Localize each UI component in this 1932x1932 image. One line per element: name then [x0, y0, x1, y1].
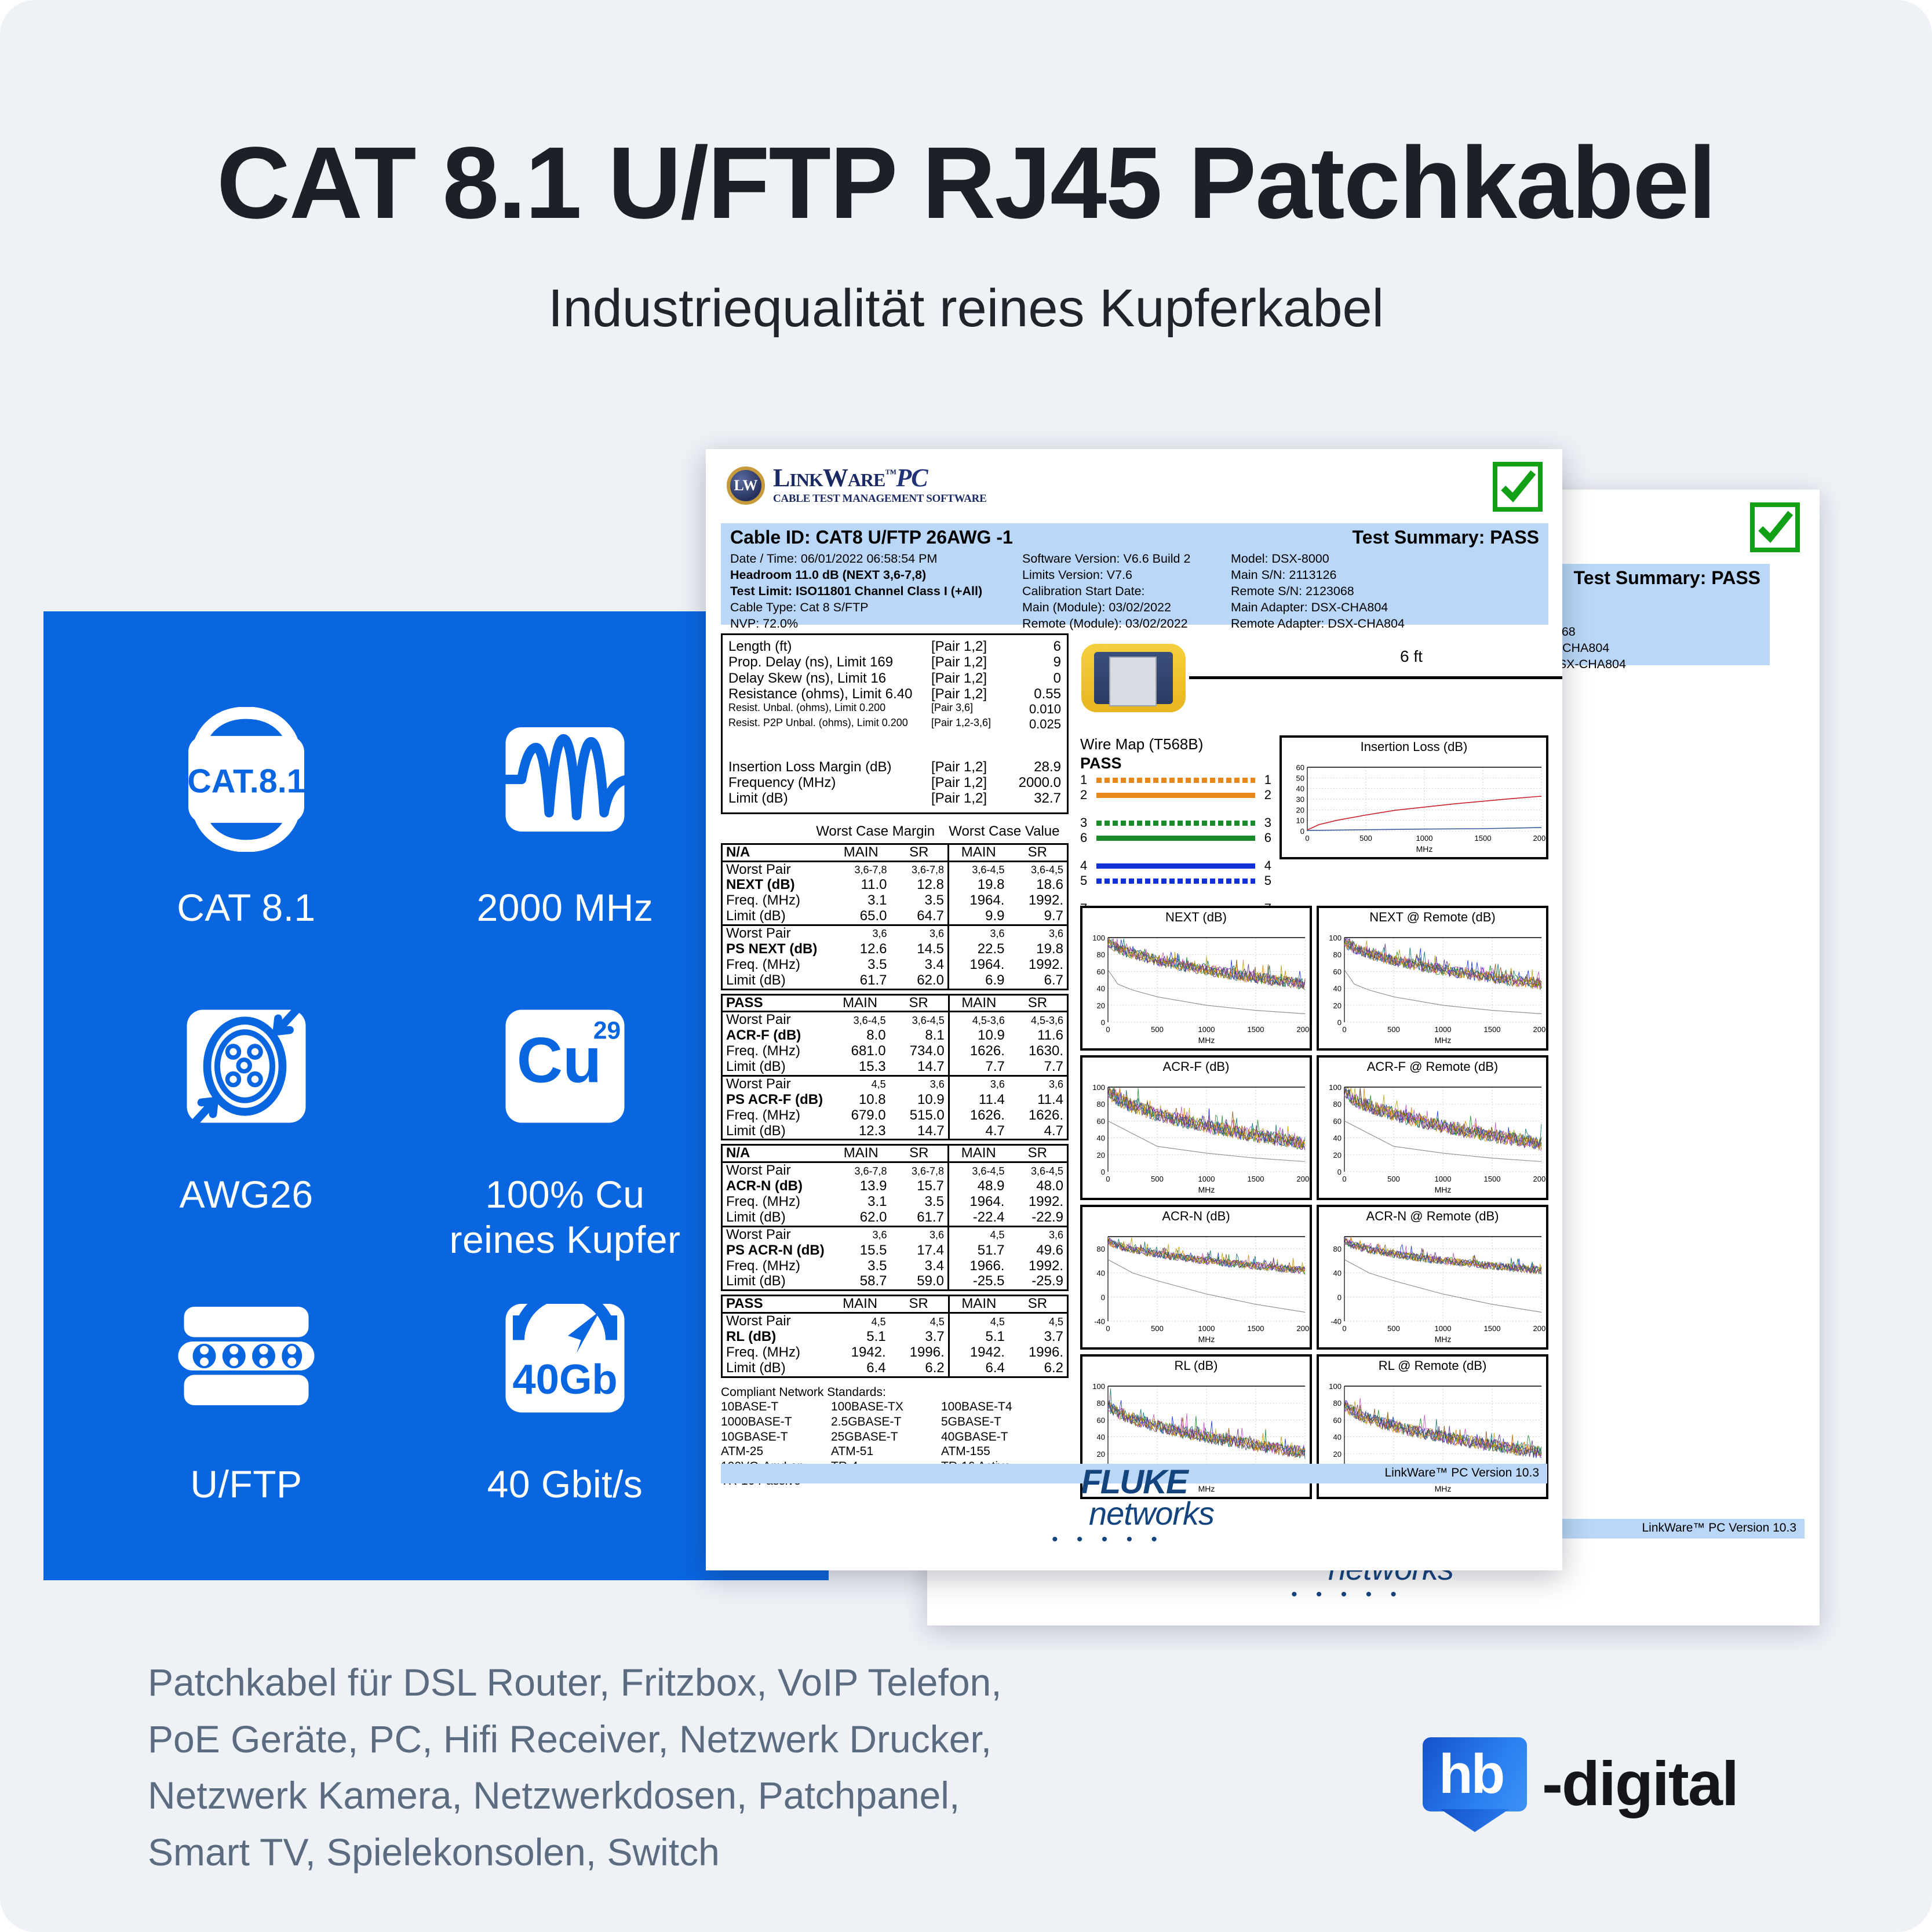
tester-diagram: 6 ft: [1076, 633, 1548, 731]
cell-value: 4,5: [831, 1313, 890, 1329]
cell-value: 12.6: [832, 942, 890, 957]
table-row: Worst Pair4,54,54,54,5: [722, 1313, 1068, 1329]
svg-text:1000: 1000: [1435, 1175, 1452, 1183]
cell-value: 3,6: [832, 925, 890, 942]
networks-wordmark: networks: [1089, 1498, 1214, 1529]
linkware-logo: LW LINKWARE™PC CABLE TEST MANAGEMENT SOF…: [727, 465, 986, 505]
cell-value: 4,5: [949, 1313, 1008, 1329]
chart-next-db: NEXT (dB) 0500100015002000020406080100MH…: [1080, 906, 1312, 1051]
measurement-pair: [Pair 1,2]: [931, 639, 1008, 654]
wire-number-left: 4: [1080, 858, 1093, 873]
feature-cat8-shield: CAT.8.1 CAT 8.1: [96, 684, 397, 931]
measurement-row: Frequency (MHz) [Pair 1,2] 2000.0: [728, 775, 1061, 790]
svg-text:60: 60: [1097, 967, 1105, 976]
measurement-pair: [Pair 1,2]: [931, 775, 1008, 790]
cell-value: 3.7: [1008, 1329, 1068, 1345]
speed-40gb-icon: 40Gb: [414, 1260, 716, 1452]
cell-value: 3,6-7,8: [890, 861, 948, 877]
cell-value: 7.7: [1008, 1059, 1068, 1076]
measurement-label: Delay Skew (ns), Limit 16: [728, 670, 931, 686]
svg-text:29: 29: [593, 1018, 621, 1045]
cell-value: 14.7: [890, 1124, 949, 1140]
row-label: ACR-N (dB): [722, 1179, 832, 1194]
svg-text:MHz: MHz: [1435, 1335, 1452, 1344]
column-header: MAIN: [832, 844, 890, 861]
table-row: Worst Pair3,63,64,53,6: [722, 1226, 1068, 1242]
wire-map-status: PASS: [1080, 754, 1271, 772]
standard-item: ATM-51: [831, 1444, 941, 1459]
cell-value: 3,6: [890, 1226, 948, 1242]
wire-number-right: 5: [1259, 873, 1271, 888]
cell-value: 11.6: [1008, 1028, 1068, 1044]
cable-id: Cable ID: CAT8 U/FTP 26AWG -1: [730, 527, 1013, 548]
measurement-pair: [Pair 1,2]: [931, 759, 1008, 775]
cell-value: 4,5: [948, 1226, 1008, 1242]
svg-text:1500: 1500: [1248, 1025, 1264, 1034]
measurement-value: 0: [1008, 670, 1061, 686]
cell-value: 9.9: [948, 909, 1008, 925]
chart-title: ACR-F (dB): [1082, 1058, 1310, 1074]
svg-text:0: 0: [1337, 1018, 1342, 1027]
cell-value: 3,6-7,8: [832, 861, 890, 877]
row-label: ACR-F (dB): [722, 1028, 831, 1044]
feature-label: 2000 MHz: [414, 885, 716, 931]
table-row: PS ACR-N (dB)15.517.451.749.6: [722, 1243, 1068, 1259]
worst-case-tables: N/AMAINSRMAINSRWorst Pair3,6-7,83,6-7,83…: [721, 843, 1069, 1378]
wire-pair-row: 2 2: [1080, 788, 1271, 803]
info-line: Main S/N: 2113126: [1231, 567, 1405, 584]
cell-value: 4.7: [949, 1124, 1008, 1140]
measurement-row: Insertion Loss Margin (dB) [Pair 1,2] 28…: [728, 759, 1061, 775]
column-header: MAIN: [831, 994, 890, 1012]
cable-cross-section-icon: [96, 971, 397, 1162]
measurement-label: Resist. P2P Unbal. (ohms), Limit 0.200: [728, 717, 931, 731]
cell-value: 3,6: [1008, 1226, 1067, 1242]
svg-text:100: 100: [1329, 1382, 1342, 1391]
cell-value: 6.9: [948, 973, 1008, 989]
cell-value: 1942.: [949, 1345, 1008, 1361]
wire-pair-row: 6 6: [1080, 830, 1271, 845]
svg-text:20: 20: [1333, 1151, 1342, 1160]
cell-value: 681.0: [831, 1044, 890, 1059]
fluke-dots: • • • • •: [1002, 1530, 1214, 1550]
standard-item: 100BASE-TX: [831, 1399, 941, 1415]
cell-value: 6.2: [890, 1361, 949, 1377]
measurement-label: Frequency (MHz): [728, 775, 931, 790]
chart-title: ACR-N (dB): [1082, 1207, 1310, 1224]
cell-value: 1992.: [1008, 957, 1067, 973]
cell-value: 15.7: [890, 1179, 948, 1194]
cell-value: 3,6: [890, 1076, 949, 1092]
measurement-pair: [Pair 1,2-3,6]: [931, 717, 1008, 731]
row-label: Limit (dB): [722, 909, 832, 925]
cell-value: -22.9: [1008, 1210, 1067, 1226]
standard-item: 1000BASE-T: [721, 1415, 831, 1430]
svg-text:-40: -40: [1094, 1317, 1105, 1326]
svg-text:0: 0: [1342, 1324, 1346, 1333]
cell-value: 11.4: [1008, 1092, 1068, 1108]
cell-value: 12.3: [831, 1124, 890, 1140]
measurement-row: Delay Skew (ns), Limit 16 [Pair 1,2] 0: [728, 670, 1061, 686]
svg-text:500: 500: [1387, 1175, 1400, 1183]
cell-value: 3,6: [890, 925, 948, 942]
back-fluke-dots: • • • • •: [1241, 1585, 1453, 1605]
report-info-band: Cable ID: CAT8 U/FTP 26AWG -1 Test Summa…: [721, 523, 1548, 625]
chart-plot: 0500100015002000020406080100MHz: [1319, 1074, 1546, 1198]
cell-value: 3,6-4,5: [890, 1012, 949, 1028]
column-header: SR: [890, 1145, 948, 1162]
cell-value: 1626.: [949, 1044, 1008, 1059]
svg-text:60: 60: [1333, 1416, 1342, 1424]
measurement-value: 28.9: [1008, 759, 1061, 775]
cell-value: 8.1: [890, 1028, 949, 1044]
cell-value: 3,6: [1008, 1076, 1068, 1092]
worst-case-table: PASSMAINSRMAINSRWorst Pair3,6-4,53,6-4,5…: [721, 994, 1069, 1141]
row-label: Freq. (MHz): [722, 1044, 831, 1059]
svg-text:40: 40: [1097, 1269, 1105, 1278]
standard-item: 10BASE-T: [721, 1399, 831, 1415]
svg-text:80: 80: [1097, 950, 1105, 959]
lw-badge-icon: LW: [727, 466, 765, 505]
svg-text:0: 0: [1106, 1175, 1110, 1183]
info-line: Remote Adapter: DSX-CHA804: [1231, 616, 1405, 632]
svg-text:1000: 1000: [1435, 1025, 1452, 1034]
cell-value: 3,6-4,5: [1008, 1162, 1067, 1179]
table-row: Worst Pair3,6-7,83,6-7,83,6-4,53,6-4,5: [722, 861, 1068, 877]
cell-value: 3,6: [832, 1226, 890, 1242]
column-header: SR: [890, 994, 949, 1012]
svg-text:60: 60: [1333, 1117, 1342, 1125]
table-row: PS NEXT (dB)12.614.522.519.8: [722, 942, 1068, 957]
row-label: Freq. (MHz): [722, 1345, 831, 1361]
measurement-value: 9: [1008, 654, 1061, 670]
table-header-row: PASSMAINSRMAINSR: [722, 994, 1068, 1012]
svg-text:1500: 1500: [1248, 1175, 1264, 1183]
table-header-row: PASSMAINSRMAINSR: [722, 1296, 1068, 1313]
svg-text:80: 80: [1097, 1399, 1105, 1408]
chart-title: ACR-N @ Remote (dB): [1319, 1207, 1546, 1224]
svg-text:MHz: MHz: [1416, 844, 1433, 854]
row-label: Worst Pair: [722, 925, 832, 942]
wire-pair-row: 5 5: [1080, 873, 1271, 888]
svg-text:10: 10: [1296, 816, 1304, 825]
table-row: PS ACR-F (dB)10.810.911.411.4: [722, 1092, 1068, 1108]
chart-insertion-loss-db: Insertion Loss (dB) 05001000150020000102…: [1280, 735, 1548, 859]
cell-value: 6.2: [1008, 1361, 1068, 1377]
chart-title: RL @ Remote (dB): [1319, 1357, 1546, 1373]
info-line: Date / Time: 06/01/2022 06:58:54 PM: [730, 551, 982, 567]
table-row: Freq. (MHz)3.13.51964.1992.: [722, 893, 1068, 909]
cell-value: 5.1: [831, 1329, 890, 1345]
table-header-row: N/AMAINSRMAINSR: [722, 1145, 1068, 1162]
standards-row: 10GBASE-T25GBASE-T40GBASE-T: [721, 1430, 1069, 1445]
linkware-tagline: CABLE TEST MANAGEMENT SOFTWARE: [773, 493, 986, 505]
measurement-pair: [Pair 1,2]: [931, 790, 1008, 806]
cell-value: 17.4: [890, 1243, 948, 1259]
svg-text:100: 100: [1092, 1083, 1105, 1092]
column-header: SR: [1008, 844, 1067, 861]
back-version-text: LinkWare™ PC Version 10.3: [1642, 1521, 1796, 1535]
cell-value: 18.6: [1008, 877, 1067, 893]
info-col-1: Date / Time: 06/01/2022 06:58:54 PMHeadr…: [730, 551, 982, 632]
info-line: Limits Version: V7.6: [1022, 567, 1190, 584]
cell-value: 3,6: [948, 925, 1008, 942]
table-row: RL (dB)5.13.75.13.7: [722, 1329, 1068, 1345]
column-header: MAIN: [948, 1145, 1008, 1162]
test-summary: Test Summary: PASS: [1353, 527, 1539, 548]
cell-value: 3.5: [890, 1194, 948, 1210]
column-header: SR: [890, 844, 948, 861]
svg-text:500: 500: [1151, 1175, 1164, 1183]
table-row: Worst Pair3,6-4,53,6-4,54,5-3,64,5-3,6: [722, 1012, 1068, 1028]
feature-speed-40gb: 40Gb 40 Gbit/s: [414, 1260, 716, 1507]
uftp-cable-icon: [96, 1260, 397, 1452]
cell-value: 11.0: [832, 877, 890, 893]
cell-value: 1992.: [1008, 1194, 1067, 1210]
cell-value: 4,5: [890, 1313, 949, 1329]
description-line: Smart TV, Spielekonsolen, Switch: [148, 1824, 1133, 1881]
svg-text:40: 40: [1296, 785, 1304, 793]
main-tester-icon: [1081, 644, 1186, 712]
measurement-label: Resistance (ohms), Limit 6.40: [728, 686, 931, 702]
feature-label: U/FTP: [96, 1462, 397, 1507]
table-row: Freq. (MHz)679.0515.01626.1626.: [722, 1108, 1068, 1124]
copper-element-icon: Cu 29: [414, 971, 716, 1162]
cell-value: 5.1: [949, 1329, 1008, 1345]
info-line: Cable Type: Cat 8 S/FTP: [730, 600, 982, 616]
wire-gap: [1080, 803, 1271, 815]
feature-label: AWG26: [96, 1172, 397, 1217]
column-header: MAIN: [832, 1145, 890, 1162]
info-line: Remote (Module): 03/02/2022: [1022, 616, 1190, 632]
svg-text:40: 40: [1333, 1134, 1342, 1143]
svg-text:1000: 1000: [1198, 1324, 1215, 1333]
standard-item: 100BASE-T4: [941, 1399, 1051, 1415]
cell-value: 15.5: [832, 1243, 890, 1259]
cell-value: 10.9: [949, 1028, 1008, 1044]
cell-value: 61.7: [890, 1210, 948, 1226]
hb-logo-mark: hb: [1423, 1737, 1527, 1830]
svg-text:0: 0: [1101, 1168, 1105, 1176]
chart-next-remote-db: NEXT @ Remote (dB) 050010001500200002040…: [1317, 906, 1548, 1051]
linkware-wordmark: LINKWARE™PC: [773, 465, 986, 491]
row-label: Worst Pair: [722, 861, 832, 877]
chart-acr-f-db: ACR-F (dB) 0500100015002000020406080100M…: [1080, 1055, 1312, 1200]
svg-text:30: 30: [1296, 795, 1304, 804]
feature-cable-cross-section: AWG26: [96, 971, 397, 1217]
svg-text:20: 20: [1097, 1001, 1105, 1010]
feature-uftp-cable: U/FTP: [96, 1260, 397, 1507]
measurement-row: Resist. P2P Unbal. (ohms), Limit 0.200 […: [728, 717, 1061, 731]
wire-number-right: 2: [1259, 788, 1271, 803]
measurement-value: 6: [1008, 639, 1061, 654]
cell-value: 4,5: [831, 1076, 890, 1092]
cell-value: 10.8: [831, 1092, 890, 1108]
info-line: NVP: 72.0%: [730, 616, 982, 632]
wire-number-left: 5: [1080, 873, 1093, 888]
measurement-label: Prop. Delay (ns), Limit 169: [728, 654, 931, 670]
waveform-icon: [414, 684, 716, 875]
cell-value: 6.7: [1008, 973, 1067, 989]
info-line: Model: DSX-8000: [1231, 551, 1405, 567]
table-row: Limit (dB)6.46.26.46.2: [722, 1361, 1068, 1377]
cell-value: 13.9: [832, 1179, 890, 1194]
svg-text:0: 0: [1101, 1293, 1105, 1302]
wire-map-title: Wire Map (T568B): [1080, 735, 1271, 753]
row-label: Freq. (MHz): [722, 957, 832, 973]
cell-value: 65.0: [832, 909, 890, 925]
table-row: Limit (dB)12.314.74.74.7: [722, 1124, 1068, 1140]
standard-item: 10GBASE-T: [721, 1430, 831, 1445]
cell-value: 11.4: [949, 1092, 1008, 1108]
cell-value: 3.5: [832, 1259, 890, 1274]
wire-line: [1096, 836, 1255, 841]
svg-text:100: 100: [1092, 1382, 1105, 1391]
cell-value: 1996.: [1008, 1345, 1068, 1361]
wc-value-header: Worst Case Value: [940, 823, 1069, 840]
chart-title: NEXT @ Remote (dB): [1319, 908, 1546, 925]
svg-text:40Gb: 40Gb: [512, 1356, 617, 1403]
standard-item: 2.5GBASE-T: [831, 1415, 941, 1430]
worst-case-table: N/AMAINSRMAINSRWorst Pair3,6-7,83,6-7,83…: [721, 1144, 1069, 1291]
row-label: Freq. (MHz): [722, 1194, 832, 1210]
svg-text:500: 500: [1387, 1324, 1400, 1333]
cell-value: -25.5: [948, 1274, 1008, 1290]
wire-pair-row: 4 4: [1080, 858, 1271, 873]
cell-value: 22.5: [948, 942, 1008, 957]
cell-value: 3.1: [832, 893, 890, 909]
svg-text:500: 500: [1359, 834, 1372, 843]
wire-number-left: 2: [1080, 788, 1093, 803]
row-label: Freq. (MHz): [722, 1108, 831, 1124]
svg-text:80: 80: [1333, 1100, 1342, 1109]
svg-text:0: 0: [1106, 1025, 1110, 1034]
cell-value: 4,5-3,6: [1008, 1012, 1068, 1028]
column-header: MAIN: [949, 994, 1008, 1012]
cell-value: 10.9: [890, 1092, 949, 1108]
table-row: Worst Pair3,63,63,63,6: [722, 925, 1068, 942]
chart-plot: 05001000150020000102030405060MHz: [1282, 754, 1546, 857]
cell-value: 19.8: [948, 877, 1008, 893]
column-header: SR: [1008, 1145, 1067, 1162]
cell-value: 3.4: [890, 957, 948, 973]
svg-text:100: 100: [1092, 934, 1105, 942]
brand-wordmark: -digital: [1542, 1747, 1738, 1820]
description-line: Patchkabel für DSL Router, Fritzbox, VoI…: [148, 1654, 1133, 1711]
svg-text:CAT.8.1: CAT.8.1: [187, 763, 305, 800]
cell-value: 3.4: [890, 1259, 948, 1274]
cell-value: 3.7: [890, 1329, 949, 1345]
table-row: Worst Pair4,53,63,63,6: [722, 1076, 1068, 1092]
chart-acr-f-remote-db: ACR-F @ Remote (dB) 05001000150020000204…: [1317, 1055, 1548, 1200]
svg-text:0: 0: [1337, 1293, 1342, 1302]
svg-text:60: 60: [1333, 967, 1342, 976]
test-report-front-sheet: LW LINKWARE™PC CABLE TEST MANAGEMENT SOF…: [706, 449, 1562, 1570]
cell-value: 1992.: [1008, 1259, 1067, 1274]
table-row: Freq. (MHz)3.53.41966.1992.: [722, 1259, 1068, 1274]
basic-results-box: Length (ft) [Pair 1,2] 6Prop. Delay (ns)…: [721, 633, 1069, 814]
cell-value: 4,5-3,6: [949, 1012, 1008, 1028]
column-header: SR: [890, 1296, 949, 1313]
svg-text:60: 60: [1097, 1416, 1105, 1424]
cell-value: 51.7: [948, 1243, 1008, 1259]
block-status: PASS: [722, 1296, 831, 1313]
measurement-row: Resistance (ohms), Limit 6.40 [Pair 1,2]…: [728, 686, 1061, 702]
row-label: PS NEXT (dB): [722, 942, 832, 957]
linkware-version: LinkWare™ PC Version 10.3: [1384, 1466, 1539, 1480]
standard-item: ATM-25: [721, 1444, 831, 1459]
cell-value: 1996.: [890, 1345, 949, 1361]
fluke-wordmark: FLUKE: [1054, 1466, 1214, 1498]
cell-value: 1964.: [948, 1194, 1008, 1210]
insertion-loss-chart-wrap: Insertion Loss (dB) 05001000150020000102…: [1280, 735, 1548, 859]
svg-text:80: 80: [1097, 1245, 1105, 1253]
cell-value: 9.7: [1008, 909, 1067, 925]
cell-value: 61.7: [832, 973, 890, 989]
cable-length-label: 6 ft: [1400, 647, 1423, 666]
row-label: Limit (dB): [722, 1361, 831, 1377]
measurement-pair: [Pair 1,2]: [931, 654, 1008, 670]
svg-text:1500: 1500: [1484, 1175, 1501, 1183]
svg-text:2000: 2000: [1297, 1175, 1310, 1183]
table-row: Limit (dB)58.759.0-25.5-25.9: [722, 1274, 1068, 1290]
svg-text:2000: 2000: [1297, 1324, 1310, 1333]
table-row: Freq. (MHz)3.13.51964.1992.: [722, 1194, 1068, 1210]
column-header: MAIN: [948, 844, 1008, 861]
chart-plot: 0500100015002000020406080100MHz: [1082, 925, 1310, 1048]
cell-value: 1966.: [948, 1259, 1008, 1274]
info-line: Main Adapter: DSX-CHA804: [1231, 600, 1405, 616]
svg-text:MHz: MHz: [1435, 1484, 1452, 1493]
wire-pair-row: 3 3: [1080, 815, 1271, 830]
svg-text:0: 0: [1337, 1168, 1342, 1176]
svg-text:40: 40: [1333, 1269, 1342, 1278]
row-label: RL (dB): [722, 1329, 831, 1345]
svg-text:0: 0: [1305, 834, 1309, 843]
table-row: ACR-F (dB)8.08.110.911.6: [722, 1028, 1068, 1044]
svg-text:Cu: Cu: [517, 1025, 602, 1096]
column-header: SR: [1008, 994, 1068, 1012]
wire-number-left: 1: [1080, 772, 1093, 788]
wire-line: [1096, 863, 1255, 869]
table-row: Limit (dB)62.061.7-22.4-22.9: [722, 1210, 1068, 1226]
row-label: PS ACR-N (dB): [722, 1243, 832, 1259]
graphs-column: 6 ft Wire Map (T568B) PASS 1 12 23 36 64…: [1076, 633, 1548, 731]
info-line: Headroom 11.0 dB (NEXT 3,6-7,8): [730, 567, 982, 584]
info-line: Test Limit: ISO11801 Channel Class I (+A…: [730, 584, 982, 600]
svg-text:2000: 2000: [1297, 1025, 1310, 1034]
row-label: Limit (dB): [722, 973, 832, 989]
page-subtitle: Industriequalität reines Kupferkabel: [0, 278, 1932, 339]
measurements-column: Length (ft) [Pair 1,2] 6Prop. Delay (ns)…: [721, 633, 1069, 1489]
column-header: SR: [1008, 1296, 1068, 1313]
fluke-networks-logo: FLUKE networks • • • • •: [1054, 1466, 1214, 1550]
svg-text:80: 80: [1097, 1100, 1105, 1109]
measurement-label: Length (ft): [728, 639, 931, 654]
measurement-pair: [Pair 1,2]: [931, 686, 1008, 702]
svg-text:40: 40: [1333, 985, 1342, 993]
table-row: Limit (dB)61.762.06.96.7: [722, 973, 1068, 989]
svg-text:100: 100: [1329, 1083, 1342, 1092]
svg-text:MHz: MHz: [1198, 1036, 1215, 1045]
cell-value: 3,6-4,5: [948, 1162, 1008, 1179]
measurement-pair: [Pair 3,6]: [931, 702, 1008, 716]
description-line: Netzwerk Kamera, Netzwerkdosen, Patchpan…: [148, 1767, 1133, 1824]
chart-plot: 0500100015002000-4004080MHz: [1319, 1224, 1546, 1347]
svg-text:2000: 2000: [1533, 1025, 1546, 1034]
cell-value: 6.4: [831, 1361, 890, 1377]
svg-text:60: 60: [1097, 1117, 1105, 1125]
